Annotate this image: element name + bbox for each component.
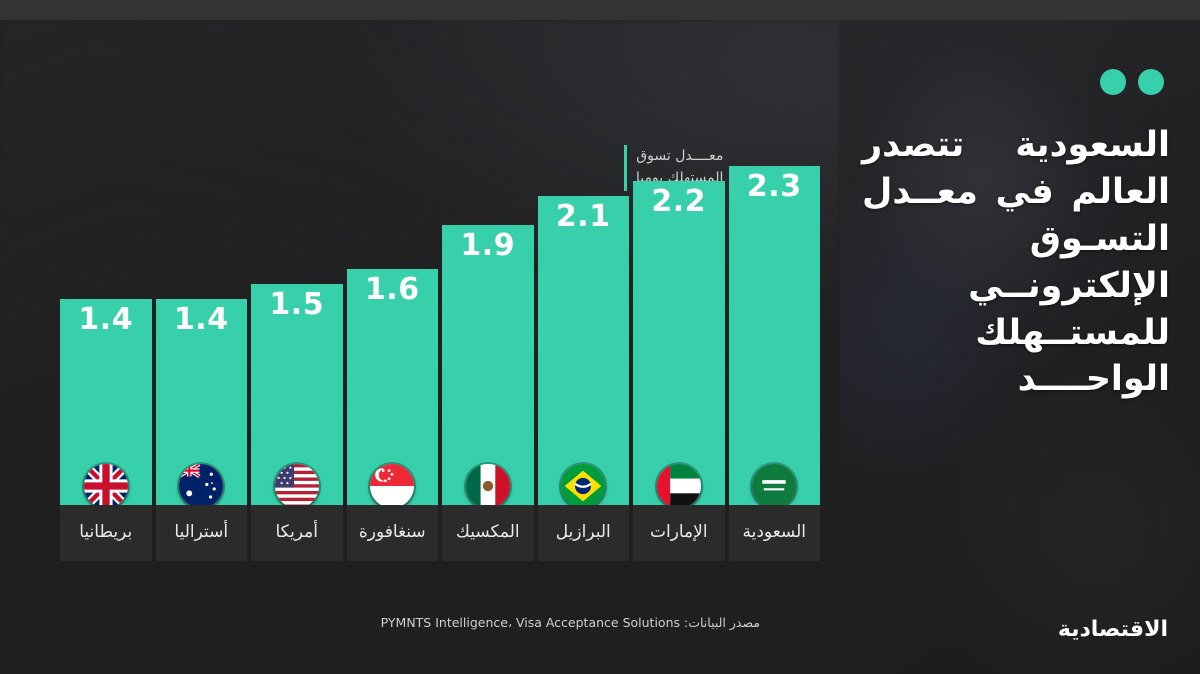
headline-text: السعودية تتصدر العالم في معــدل التسـوق … [862, 122, 1170, 403]
bar: 1.5 [251, 284, 343, 505]
bar: 1.4 [156, 299, 248, 505]
bar-value-label: 2.2 [651, 187, 706, 217]
bar: 1.4 [60, 299, 152, 505]
bar-column: 2.3 [729, 137, 821, 505]
top-strip [0, 0, 1200, 20]
brand-logo: الاقتصادية [1058, 617, 1168, 642]
category-label-cell: سنغافورة [347, 505, 439, 561]
bar-value-label: 2.1 [556, 202, 611, 232]
dot-icon [1100, 69, 1126, 95]
bar-column: 2.2 [633, 137, 725, 505]
category-label-cell: بريطانيا [60, 505, 152, 561]
bar-value-label: 2.3 [747, 172, 802, 202]
category-label-cell: المكسيك [442, 505, 534, 561]
bar-value-label: 1.4 [78, 305, 133, 335]
chart-panel: معــــدل تسوق المستهلك يوميا 2.32.22.11.… [0, 20, 840, 674]
bar: 2.2 [633, 181, 725, 505]
bar-series: 2.32.22.11.91.61.51.41.4 [60, 137, 820, 505]
category-label: المكسيك [456, 522, 520, 544]
plot-area: 2.32.22.11.91.61.51.41.4 [60, 137, 820, 505]
category-label-row: السعوديةالإماراتالبرازيلالمكسيكسنغافورةأ… [60, 505, 820, 561]
bar-column: 1.4 [156, 137, 248, 505]
infographic-canvas: معــــدل تسوق المستهلك يوميا 2.32.22.11.… [0, 0, 1200, 674]
headline-panel: السعودية تتصدر العالم في معــدل التسـوق … [840, 20, 1200, 674]
bar-column: 1.5 [251, 137, 343, 505]
category-label: البرازيل [556, 522, 611, 544]
category-label: السعودية [743, 522, 806, 544]
category-label-cell: البرازيل [538, 505, 630, 561]
category-label-cell: السعودية [729, 505, 821, 561]
bar-value-label: 1.5 [269, 290, 324, 320]
bar-column: 1.6 [347, 137, 439, 505]
category-label: الإمارات [650, 522, 708, 544]
dot-icon [1138, 69, 1164, 95]
bar-column: 1.4 [60, 137, 152, 505]
bar-value-label: 1.9 [460, 231, 515, 261]
bar: 2.3 [729, 166, 821, 505]
category-label: بريطانيا [79, 522, 132, 544]
category-label: أستراليا [174, 522, 228, 544]
category-label-cell: أستراليا [156, 505, 248, 561]
bar-value-label: 1.4 [174, 305, 229, 335]
bar-value-label: 1.6 [365, 275, 420, 305]
bar: 1.9 [442, 225, 534, 505]
category-label-cell: الإمارات [633, 505, 725, 561]
category-label: أمريكا [276, 522, 319, 544]
category-label: سنغافورة [359, 522, 426, 544]
category-label-cell: أمريكا [251, 505, 343, 561]
source-note: مصدر البيانات: PYMNTS Intelligence، Visa… [0, 615, 820, 630]
decorative-dots [1100, 69, 1164, 95]
bar: 1.6 [347, 269, 439, 505]
bar-column: 1.9 [442, 137, 534, 505]
bar-column: 2.1 [538, 137, 630, 505]
bar: 2.1 [538, 196, 630, 505]
